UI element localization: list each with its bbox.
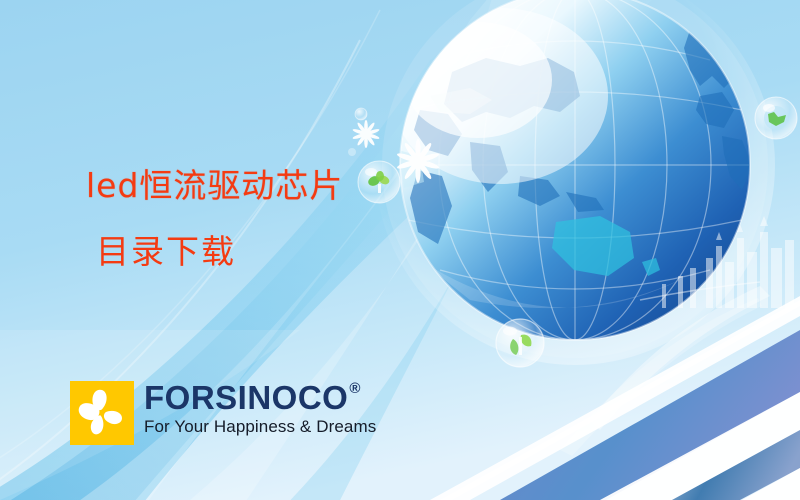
bubble-pinwheel-icon [358,161,400,203]
pinwheel-clover-icon [70,381,134,445]
bubble-micro-icon [348,148,356,156]
bubble-globe-icon [755,97,797,139]
promo-banner: led恒流驱动芯片 目录下载 FORSINOCO ® For Your Happ… [0,0,800,500]
bubble-tiny-icon [355,108,367,120]
flower-large-icon [396,139,439,183]
brand-tagline: For Your Happiness & Dreams [144,417,376,437]
registered-trademark-icon: ® [349,381,361,397]
logo-wordmark: FORSINOCO ® For Your Happiness & Dreams [144,381,376,437]
headline-line-1: led恒流驱动芯片 [86,164,343,208]
bubble-leaf-icon [496,319,544,367]
headline-line-2: 目录下载 [96,230,236,274]
brand-name: FORSINOCO [144,381,348,415]
company-logo: FORSINOCO ® For Your Happiness & Dreams [70,381,376,445]
brand-name-row: FORSINOCO ® [144,381,376,415]
flower-small-icon [352,120,380,148]
